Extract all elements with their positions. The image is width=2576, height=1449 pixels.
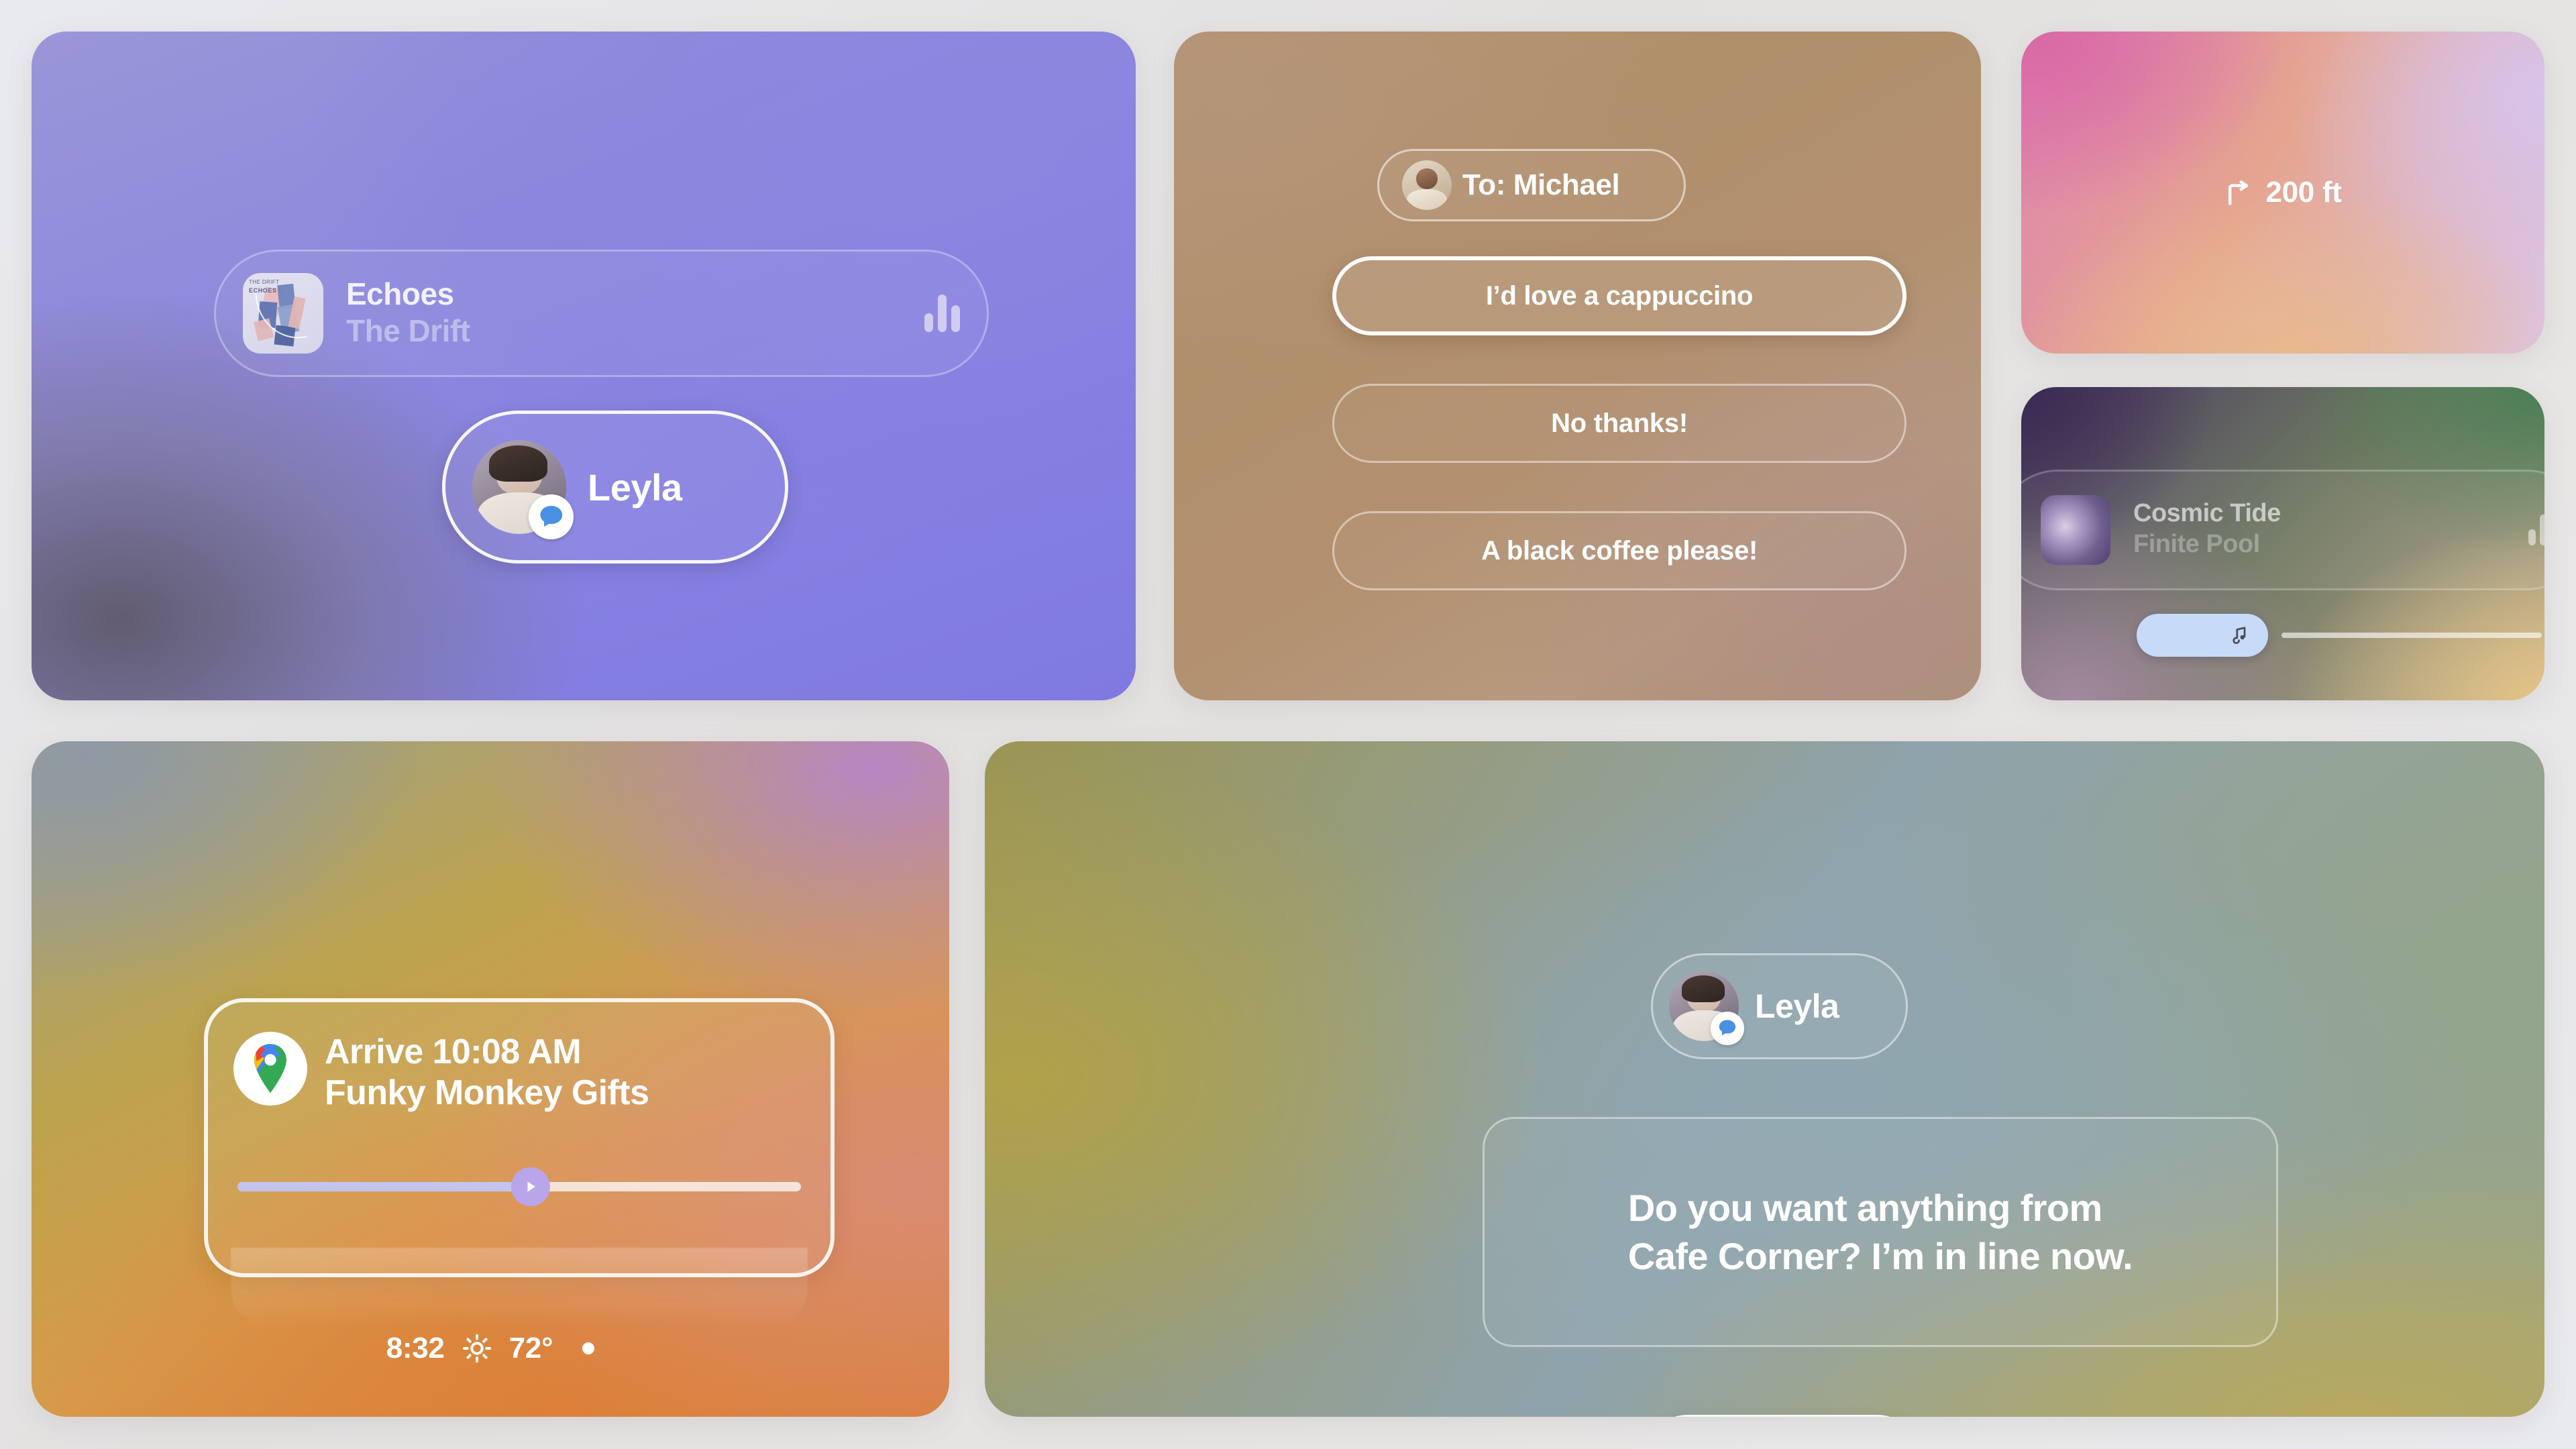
album-art: THE DRIFT ECHOES — [243, 273, 323, 354]
contact-pill-leyla[interactable]: Leyla — [442, 411, 788, 563]
messages-bubble-icon — [529, 494, 574, 539]
album-art — [2041, 495, 2110, 565]
google-maps-pin-icon — [233, 1032, 307, 1106]
route-progress-knob[interactable] — [511, 1167, 550, 1206]
arrival-destination: Funky Monkey Gifts — [325, 1073, 649, 1114]
now-playing-capsule[interactable]: THE DRIFT ECHOES Echoes The Drift — [214, 250, 989, 377]
now-playing-capsule[interactable]: Cosmic Tide Finite Pool — [2021, 470, 2544, 590]
card-incoming-message[interactable]: Leyla Do you want anything from Cafe Cor… — [985, 741, 2544, 1417]
arrival-row: Arrive 10:08 AM Funky Monkey Gifts — [233, 1032, 649, 1114]
track-title: Echoes — [346, 278, 470, 310]
suggestion-option-1[interactable]: No thanks! — [1332, 384, 1907, 463]
card-navigation-distance[interactable]: 200 ft — [2021, 32, 2544, 354]
message-line-1: Do you want anything from — [1628, 1184, 2133, 1232]
suggestion-option-2[interactable]: A black coffee please! — [1332, 511, 1907, 590]
suggestion-label: I’d love a cappuccino — [1486, 281, 1753, 311]
play-triangle-icon — [523, 1178, 539, 1195]
contact-name: Leyla — [588, 466, 682, 509]
cosmic-scrubber[interactable] — [2137, 614, 2542, 657]
album-art-title-label: ECHOES — [249, 286, 279, 294]
arrival-text: Arrive 10:08 AM Funky Monkey Gifts — [325, 1032, 649, 1114]
scrubber-track[interactable] — [2282, 633, 2542, 638]
album-art-label: THE DRIFT ECHOES — [249, 279, 279, 294]
suggestion-label: A black coffee please! — [1481, 536, 1758, 566]
track-artist: The Drift — [346, 313, 470, 349]
equalizer-icon — [924, 294, 960, 332]
suggestion-option-0[interactable]: I’d love a cappuccino — [1332, 256, 1907, 335]
equalizer-icon — [2528, 515, 2544, 545]
card-music-cosmic-tide[interactable]: Cosmic Tide Finite Pool — [2021, 387, 2544, 700]
status-row: 8:32 72° — [32, 1332, 949, 1365]
recipient-name: To: Michael — [1462, 168, 1619, 202]
contact-pill-leyla[interactable]: Leyla — [1651, 953, 1908, 1059]
track-meta: Echoes The Drift — [346, 278, 470, 348]
contact-name: Leyla — [1755, 987, 1839, 1026]
music-note-icon — [2231, 624, 2251, 647]
navigation-distance-row: 200 ft — [2021, 176, 2544, 209]
messages-bubble-icon — [1711, 1012, 1744, 1045]
message-body: Do you want anything from Cafe Corner? I… — [1582, 1184, 2178, 1280]
recipient-pill[interactable]: To: Michael — [1377, 149, 1686, 221]
track-meta: Cosmic Tide Finite Pool — [2133, 500, 2281, 559]
avatar — [1669, 971, 1739, 1041]
card-navigation-arrival[interactable]: Arrive 10:08 AM Funky Monkey Gifts 8:32 — [32, 741, 949, 1417]
card-reply-suggestions[interactable]: To: Michael I’d love a cappuccino No tha… — [1174, 32, 1981, 700]
status-dot-icon — [582, 1342, 594, 1354]
scrubber-knob[interactable] — [2137, 614, 2268, 657]
route-progress-fill — [237, 1182, 531, 1191]
clock-time: 8:32 — [386, 1332, 445, 1365]
avatar — [472, 440, 566, 534]
reply-button[interactable]: Reply — [1644, 1415, 1921, 1417]
message-line-2: Cafe Corner? I’m in line now. — [1628, 1232, 2133, 1281]
album-art-artist-label: THE DRIFT — [249, 279, 279, 285]
turn-right-icon — [2224, 178, 2253, 207]
temperature-label: 72° — [509, 1332, 553, 1365]
suggestion-label: No thanks! — [1551, 409, 1688, 439]
route-progress-bar[interactable] — [237, 1182, 801, 1191]
sun-icon — [462, 1334, 492, 1363]
arrival-eta: Arrive 10:08 AM — [325, 1032, 649, 1073]
track-artist: Finite Pool — [2133, 530, 2281, 559]
navigation-distance-label: 200 ft — [2265, 176, 2341, 209]
message-bubble[interactable]: Do you want anything from Cafe Corner? I… — [1483, 1117, 2278, 1347]
widget-canvas: THE DRIFT ECHOES Echoes The Drift — [0, 0, 2576, 1449]
arrival-capsule[interactable]: Arrive 10:08 AM Funky Monkey Gifts — [204, 998, 835, 1277]
card-music-now-playing[interactable]: THE DRIFT ECHOES Echoes The Drift — [32, 32, 1136, 700]
avatar — [1402, 160, 1452, 210]
track-title: Cosmic Tide — [2133, 500, 2281, 527]
